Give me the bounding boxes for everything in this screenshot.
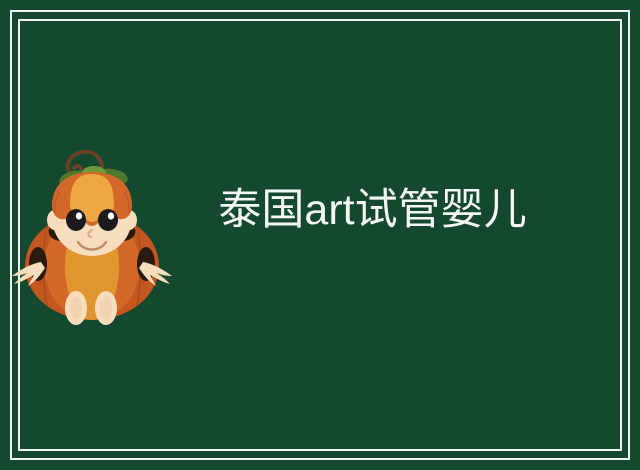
poster-canvas: 泰国art试管婴儿	[0, 0, 640, 470]
page-title: 泰国art试管婴儿	[180, 180, 565, 240]
eye-right-icon	[98, 209, 118, 231]
eye-left-icon	[66, 209, 86, 231]
foot-left-shade	[70, 297, 82, 319]
eye-right-highlight	[108, 212, 114, 219]
eye-left-highlight	[76, 212, 82, 219]
foot-right-shade	[100, 297, 112, 319]
pumpkin-baby-illustration	[8, 142, 178, 327]
